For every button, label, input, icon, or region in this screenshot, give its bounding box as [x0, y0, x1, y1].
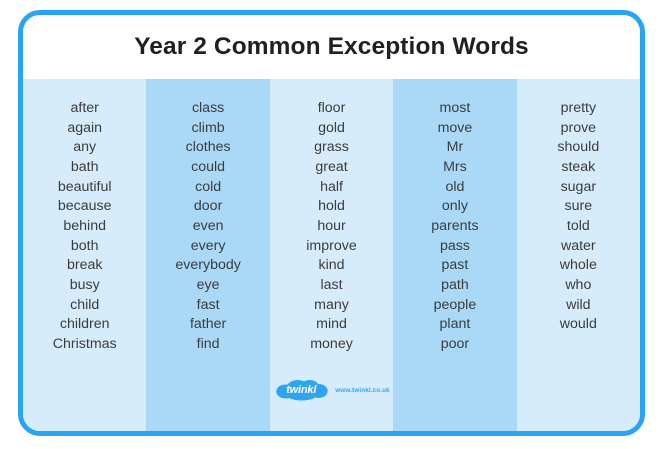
word-item: cold [146, 178, 269, 198]
word-item: clothes [146, 138, 269, 158]
word-item: beautiful [23, 178, 146, 198]
word-item: water [517, 237, 640, 257]
word-item: improve [270, 237, 393, 257]
word-item: prove [517, 119, 640, 139]
word-item: because [23, 197, 146, 217]
word-item: money [270, 335, 393, 355]
word-item: floor [270, 99, 393, 119]
word-item: busy [23, 276, 146, 296]
word-item: most [393, 99, 516, 119]
word-item: both [23, 237, 146, 257]
word-item: after [23, 99, 146, 119]
word-item: old [393, 178, 516, 198]
word-item: door [146, 197, 269, 217]
word-item: half [270, 178, 393, 198]
word-item: every [146, 237, 269, 257]
word-item: steak [517, 158, 640, 178]
word-item: father [146, 315, 269, 335]
word-item: find [146, 335, 269, 355]
word-item: Christmas [23, 335, 146, 355]
word-item: any [23, 138, 146, 158]
word-item: hour [270, 217, 393, 237]
twinkl-url[interactable]: www.twinkl.co.uk [335, 387, 390, 394]
word-item: parents [393, 217, 516, 237]
word-item: only [393, 197, 516, 217]
word-column-1: after again any bath beautiful because b… [23, 79, 146, 431]
word-column-4: most move Mr Mrs old only parents pass p… [393, 79, 516, 431]
word-item: even [146, 217, 269, 237]
word-item: sugar [517, 178, 640, 198]
word-item: hold [270, 197, 393, 217]
word-item: move [393, 119, 516, 139]
word-item: Mrs [393, 158, 516, 178]
word-item: behind [23, 217, 146, 237]
twinkl-logo[interactable]: twinkl www.twinkl.co.uk [273, 379, 390, 401]
word-item: poor [393, 335, 516, 355]
word-item: past [393, 256, 516, 276]
word-item: told [517, 217, 640, 237]
word-item: mind [270, 315, 393, 335]
word-item: child [23, 296, 146, 316]
word-item: class [146, 99, 269, 119]
word-item: whole [517, 256, 640, 276]
page-title: Year 2 Common Exception Words [134, 33, 529, 61]
word-item: pretty [517, 99, 640, 119]
word-item: last [270, 276, 393, 296]
word-item: children [23, 315, 146, 335]
word-item: people [393, 296, 516, 316]
word-item: could [146, 158, 269, 178]
word-item: should [517, 138, 640, 158]
word-item: would [517, 315, 640, 335]
word-column-5: pretty prove should steak sugar sure tol… [517, 79, 640, 431]
word-item: gold [270, 119, 393, 139]
word-item: plant [393, 315, 516, 335]
poster-card: Year 2 Common Exception Words after agai… [18, 10, 645, 436]
word-item: path [393, 276, 516, 296]
word-column-2: class climb clothes could cold door even… [146, 79, 269, 431]
word-item: climb [146, 119, 269, 139]
cloud-icon: twinkl [273, 379, 329, 401]
word-item: everybody [146, 256, 269, 276]
word-item: break [23, 256, 146, 276]
word-item: grass [270, 138, 393, 158]
twinkl-wordmark: twinkl [273, 379, 329, 401]
word-item: great [270, 158, 393, 178]
word-item: many [270, 296, 393, 316]
word-item: pass [393, 237, 516, 257]
word-item: bath [23, 158, 146, 178]
word-item: sure [517, 197, 640, 217]
word-item: kind [270, 256, 393, 276]
word-item: fast [146, 296, 269, 316]
word-item: who [517, 276, 640, 296]
word-item: eye [146, 276, 269, 296]
word-item: again [23, 119, 146, 139]
word-item: Mr [393, 138, 516, 158]
word-item: wild [517, 296, 640, 316]
poster-header: Year 2 Common Exception Words [23, 15, 640, 79]
